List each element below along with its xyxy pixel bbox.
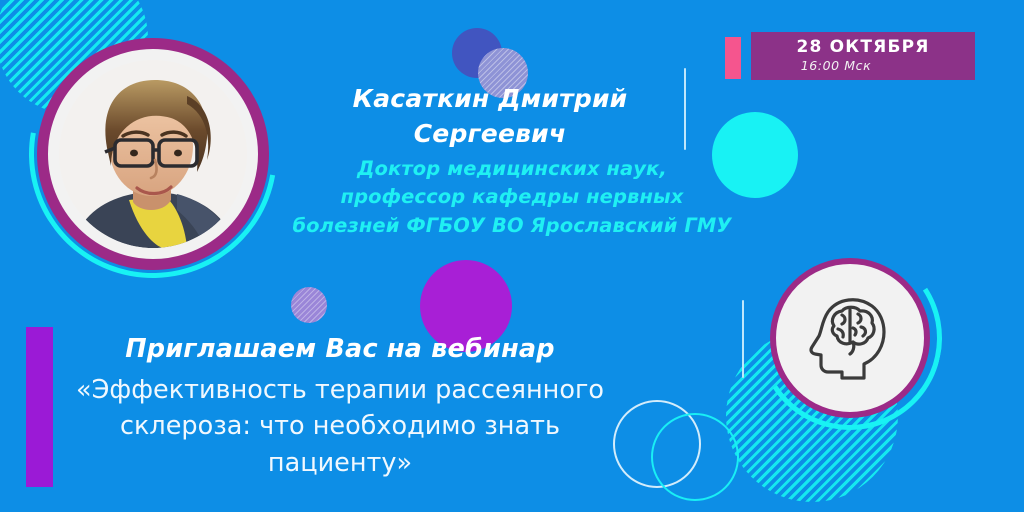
webinar-topic-line-2: склероза: что необходимо знать (60, 408, 620, 444)
vertical-divider-top (684, 68, 686, 150)
speaker-title-line-3: болезней ФГБОУ ВО Ярославский ГМУ (286, 212, 738, 240)
blue-circle-decoration (452, 28, 502, 78)
speaker-title-line-1: Доктор медицинских наук, (286, 155, 738, 183)
event-date: 28 ОКТЯБРЯ (796, 39, 929, 57)
speaker-name-line-1: Касаткин Дмитрий (300, 82, 680, 117)
violet-accent-bar (26, 327, 53, 487)
webinar-topic: «Эффективность терапии рассеянного склер… (60, 372, 620, 481)
speaker-name: Касаткин Дмитрий Сергеевич (300, 82, 680, 151)
head-with-brain-icon (798, 284, 902, 392)
invitation-block: Приглашаем Вас на вебинар «Эффективность… (60, 333, 620, 481)
halftone-purple-circle-decoration (291, 287, 327, 323)
webinar-announcement-poster: 28 ОКТЯБРЯ 16:00 Мск (0, 0, 1024, 512)
speaker-title-line-2: профессор кафедры нервных (286, 183, 738, 211)
pink-accent-bar (725, 37, 741, 79)
speaker-name-line-2: Сергеевич (300, 117, 680, 152)
white-outline-ring-decoration (613, 400, 701, 488)
speaker-photo (37, 38, 269, 270)
cyan-outline-ring-decoration (651, 413, 739, 501)
brain-purple-ring (770, 258, 930, 418)
date-banner: 28 ОКТЯБРЯ 16:00 Мск (751, 32, 975, 80)
invitation-lead: Приглашаем Вас на вебинар (60, 333, 620, 366)
speaker-title: Доктор медицинских наук, профессор кафед… (286, 155, 738, 240)
brain-badge (770, 258, 930, 418)
event-time: 16:00 Мск (801, 58, 872, 74)
avatar (59, 60, 247, 248)
webinar-topic-line-3: пациенту» (60, 445, 620, 481)
vertical-divider-brain (742, 300, 744, 378)
webinar-topic-line-1: «Эффективность терапии рассеянного (60, 372, 620, 408)
